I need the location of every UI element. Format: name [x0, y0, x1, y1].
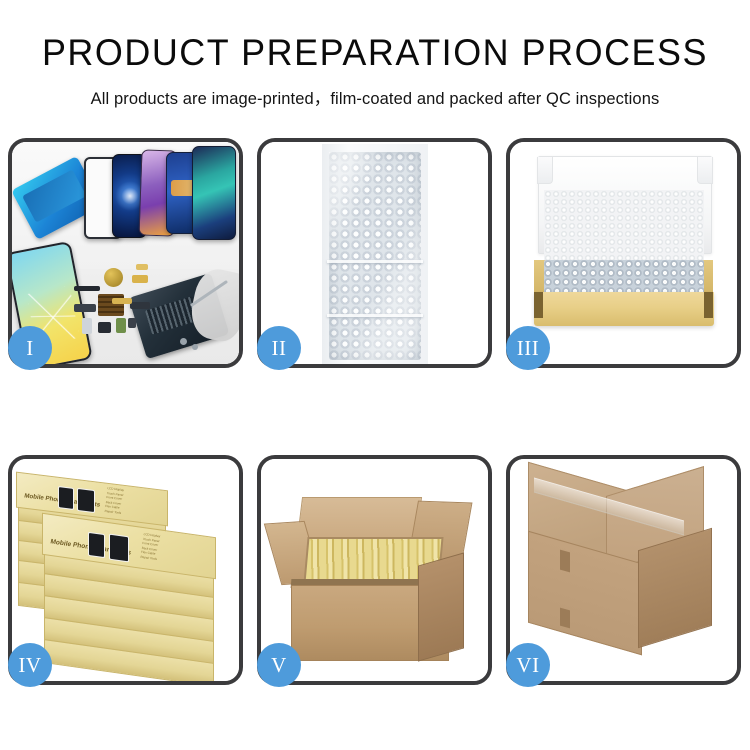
bubble-wrap-seam-2: [327, 314, 423, 317]
header: PRODUCT PREPARATION PROCESS All products…: [0, 0, 750, 109]
part-screw-1: [180, 338, 187, 345]
step-image-1: [12, 142, 239, 364]
step-panel-6: VI: [506, 455, 741, 685]
part-flex-cable-2: [130, 302, 150, 309]
part-home-button: [104, 268, 123, 287]
box-art-screen-f1: [88, 532, 105, 558]
part-gold-clip: [136, 264, 148, 270]
box-tab-left: [534, 292, 543, 318]
box-art-screen-b2: [77, 488, 95, 513]
box-art-screen-b1: [58, 486, 74, 510]
part-sim-tray: [82, 318, 92, 334]
step-image-5: [261, 459, 488, 681]
page-title: PRODUCT PREPARATION PROCESS: [11, 34, 739, 71]
step-image-4: Mobile Phone Spare Parts LCD Display Tou…: [12, 459, 239, 681]
step-badge-5: V: [257, 643, 301, 687]
step-image-3: [510, 142, 737, 364]
box-checklist-back: LCD Display Touch Panel Front Cover Back…: [104, 486, 124, 515]
part-gold-strip: [112, 298, 132, 304]
bubble-wrapped-contents: [544, 260, 704, 294]
part-small-ic: [128, 318, 136, 328]
box-stack: Mobile Phone Spare Parts LCD Display Tou…: [12, 459, 239, 681]
part-camera-module: [98, 322, 111, 333]
step-panel-2: II: [257, 138, 492, 368]
part-speaker-mesh: [74, 286, 100, 291]
part-vibration-motor: [116, 318, 126, 333]
carton-seam-upper: [560, 550, 570, 573]
step-panel-1: I: [8, 138, 243, 368]
bubble-wrap-pouch: [329, 152, 421, 360]
page-subtitle: All products are image-printed，film-coat…: [0, 85, 750, 109]
box-tab-right: [704, 292, 713, 318]
part-gold-connector: [132, 275, 148, 283]
process-steps-grid: I II III: [8, 138, 742, 685]
step-badge-2: II: [257, 326, 301, 370]
part-flex-cable: [74, 304, 96, 312]
step-panel-5: V: [257, 455, 492, 685]
phone-screen-teal: [192, 146, 236, 240]
sealed-carton-side: [638, 528, 712, 649]
product-preparation-infographic: PRODUCT PREPARATION PROCESS All products…: [0, 0, 750, 750]
box-front-kraft: [534, 292, 714, 326]
part-screw-2: [192, 344, 198, 350]
box-art-screen-f2: [109, 534, 129, 563]
step-badge-6: VI: [506, 643, 550, 687]
step-image-6: [510, 459, 737, 681]
bubble-wrap-seam-1: [327, 260, 423, 263]
foam-sheet: [544, 190, 704, 262]
step-badge-4: IV: [8, 643, 52, 687]
step-badge-1: I: [8, 326, 52, 370]
step-panel-4: Mobile Phone Spare Parts LCD Display Tou…: [8, 455, 243, 685]
step-panel-3: III: [506, 138, 741, 368]
carton-seam-lower: [560, 608, 570, 629]
step-image-2: [261, 142, 488, 364]
carton-side-face: [418, 552, 464, 661]
step-badge-3: III: [506, 326, 550, 370]
box-checklist-front: LCD Display Touch Panel Front Cover Back…: [140, 532, 160, 561]
